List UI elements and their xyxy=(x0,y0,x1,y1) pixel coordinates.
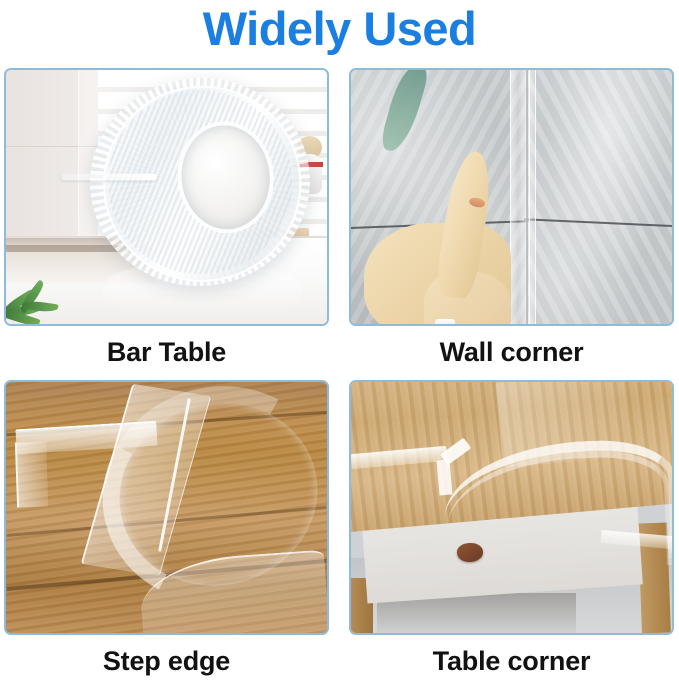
potted-plant xyxy=(4,268,66,324)
panel-wall-corner: Wall corner xyxy=(349,68,674,368)
scene-wall-corner xyxy=(351,70,672,324)
hand xyxy=(364,151,563,326)
panel-caption-table-corner: Table corner xyxy=(349,646,674,677)
panel-caption-step-edge: Step edge xyxy=(4,646,329,677)
scene-table-corner xyxy=(351,382,672,633)
panel-bar-table: Bar Table xyxy=(4,68,329,368)
panel-step-edge: Step edge xyxy=(4,380,329,677)
photo-step-edge xyxy=(4,380,329,635)
panel-grid: Bar Table Wall co xyxy=(0,62,679,683)
tape-roll-tail xyxy=(61,173,157,180)
scene-step-edge xyxy=(6,382,327,633)
tape-roll xyxy=(80,68,321,297)
page-title: Widely Used xyxy=(0,0,679,62)
panel-caption-wall-corner: Wall corner xyxy=(349,337,674,368)
photo-wall-corner xyxy=(349,68,674,326)
scene-bar-table xyxy=(6,70,327,324)
photo-bar-table xyxy=(4,68,329,326)
finger-ring xyxy=(435,319,455,326)
tape-flap-left xyxy=(436,459,452,495)
panel-table-corner: Table corner xyxy=(349,380,674,677)
tape-lip xyxy=(14,442,47,508)
panel-caption-bar-table: Bar Table xyxy=(4,337,329,368)
photo-table-corner xyxy=(349,380,674,635)
